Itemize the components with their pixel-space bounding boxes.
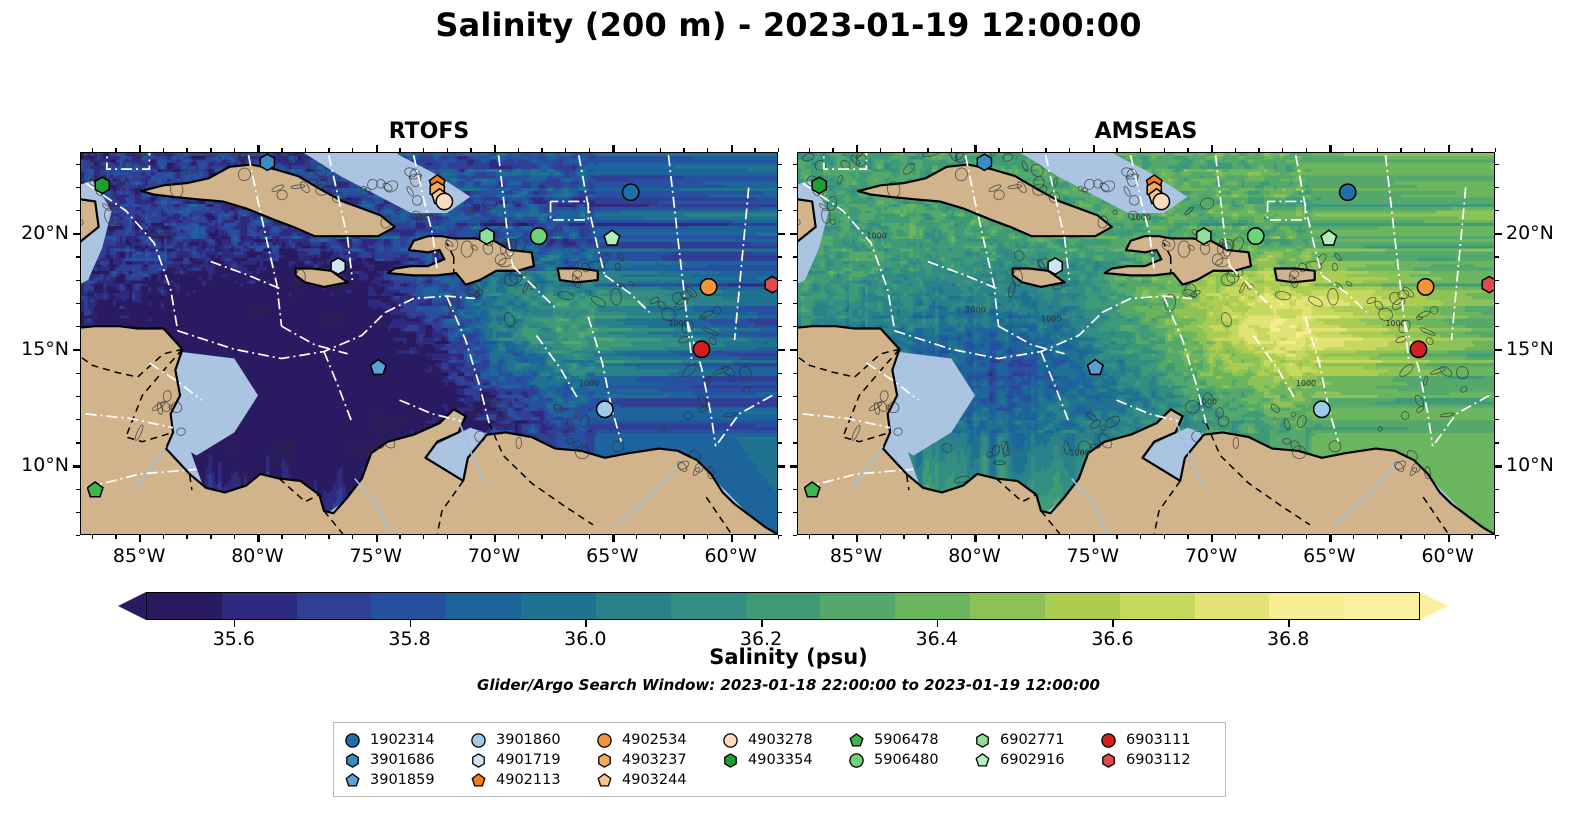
axis-tick — [778, 442, 782, 443]
axis-tick — [809, 535, 810, 539]
lon-tick-label: 60°W — [704, 545, 756, 567]
lon-tick-label: 80°W — [948, 545, 1000, 567]
legend-item-4903278[interactable]: 4903278 — [722, 732, 848, 749]
legend-item-5906478[interactable]: 5906478 — [848, 732, 974, 749]
hexagon-marker-icon — [596, 752, 613, 769]
axis-tick — [76, 373, 80, 374]
axis-tick — [778, 280, 782, 281]
axis-tick — [257, 145, 259, 152]
axis-tick — [1495, 326, 1499, 327]
axis-tick — [778, 512, 782, 513]
axis-tick — [793, 303, 797, 304]
colorbar-gradient — [146, 592, 1420, 620]
axis-tick — [92, 148, 93, 152]
axis-tick — [1069, 535, 1070, 539]
axis-tick — [951, 535, 952, 539]
axis-tick — [1495, 187, 1499, 188]
float-marker-6903111[interactable] — [693, 341, 709, 357]
axis-tick — [589, 148, 590, 152]
legend-item-label: 4902534 — [622, 732, 687, 748]
axis-tick — [998, 148, 999, 152]
axis-tick — [1495, 465, 1502, 467]
axis-tick — [76, 326, 80, 327]
axis-tick — [778, 349, 785, 351]
axis-tick — [951, 148, 952, 152]
axis-tick — [707, 148, 708, 152]
legend-item-label: 3901859 — [370, 772, 435, 788]
axis-tick — [399, 148, 400, 152]
axis-tick — [470, 148, 471, 152]
axis-tick — [565, 535, 566, 539]
svg-text:1000: 1000 — [1041, 315, 1061, 324]
float-marker-3901686[interactable] — [977, 154, 991, 170]
axis-tick — [163, 148, 164, 152]
axis-tick — [305, 535, 306, 539]
axis-tick — [1471, 535, 1472, 539]
svg-text:1000: 1000 — [966, 305, 986, 314]
axis-tick — [447, 148, 448, 152]
legend-item-label: 4903244 — [622, 772, 687, 788]
axis-tick — [856, 145, 858, 152]
float-marker-4902534[interactable] — [700, 279, 716, 295]
axis-tick — [778, 256, 782, 257]
axis-tick — [731, 535, 733, 542]
map-panel-rtofs[interactable]: 10001000100010001000100010001000 — [80, 152, 778, 535]
axis-tick — [376, 145, 378, 152]
axis-tick — [778, 419, 782, 420]
float-marker-6903112[interactable] — [765, 276, 777, 292]
axis-tick — [612, 535, 614, 542]
circle-marker-icon — [470, 732, 487, 749]
axis-tick — [352, 148, 353, 152]
axis-tick — [998, 535, 999, 539]
axis-tick — [612, 145, 614, 152]
axis-tick — [1045, 148, 1046, 152]
axis-tick — [1495, 489, 1499, 490]
axis-tick — [809, 148, 810, 152]
axis-tick — [778, 148, 779, 152]
axis-tick — [115, 535, 116, 539]
legend-item-label: 5906480 — [874, 752, 939, 768]
circle-marker-icon — [344, 732, 361, 749]
svg-text:1000: 1000 — [414, 213, 434, 222]
colorbar-tick — [937, 620, 939, 627]
axis-tick — [352, 535, 353, 539]
axis-tick — [1495, 256, 1499, 257]
axis-tick — [1093, 535, 1095, 542]
axis-tick — [1022, 148, 1023, 152]
axis-tick — [1471, 148, 1472, 152]
svg-text:1000: 1000 — [1131, 213, 1151, 222]
axis-tick — [494, 145, 496, 152]
axis-tick — [376, 535, 378, 542]
axis-tick — [281, 535, 282, 539]
axis-tick — [636, 148, 637, 152]
axis-tick — [1211, 145, 1213, 152]
axis-tick — [754, 148, 755, 152]
lat-tick-label-right: 20°N — [1506, 222, 1554, 244]
axis-tick — [186, 535, 187, 539]
axis-tick — [76, 396, 80, 397]
axis-tick — [494, 535, 496, 542]
map-raster: 10001000100010001000100010001000 — [81, 153, 777, 534]
axis-tick — [470, 535, 471, 539]
colorbar-extend-max — [1420, 592, 1448, 620]
hexagon-marker-icon — [470, 752, 487, 769]
legend-item-4903237[interactable]: 4903237 — [596, 752, 722, 769]
axis-tick — [1140, 148, 1141, 152]
legend-item-label: 6903111 — [1126, 732, 1191, 748]
axis-tick — [1448, 145, 1450, 152]
map-raster: 10001000100010001000100010001000 — [798, 153, 1494, 534]
axis-tick — [139, 535, 141, 542]
axis-tick — [1164, 148, 1165, 152]
float-marker-4902534[interactable] — [1417, 279, 1433, 295]
axis-tick — [76, 210, 80, 211]
axis-tick — [1282, 148, 1283, 152]
axis-tick — [778, 465, 785, 467]
axis-tick — [589, 535, 590, 539]
axis-tick — [880, 148, 881, 152]
axis-tick — [1187, 535, 1188, 539]
axis-tick — [115, 148, 116, 152]
axis-tick — [1495, 373, 1499, 374]
svg-text:1000: 1000 — [324, 315, 344, 324]
axis-tick — [210, 535, 211, 539]
legend-row: 1902314390186049025344903278590647869027… — [344, 730, 1215, 750]
axis-tick — [281, 148, 282, 152]
legend-item-3901686[interactable]: 3901686 — [344, 752, 470, 769]
axis-tick — [778, 535, 782, 536]
legend-item-6903112[interactable]: 6903112 — [1100, 752, 1226, 769]
axis-tick — [832, 535, 833, 539]
axis-tick — [1495, 512, 1499, 513]
legend-item-6902916[interactable]: 6902916 — [974, 752, 1100, 769]
panel-title-amseas: AMSEAS — [797, 119, 1495, 144]
legend-item-4903244[interactable]: 4903244 — [596, 772, 722, 789]
axis-tick — [1377, 148, 1378, 152]
colorbar-tick — [761, 620, 763, 627]
legend-item-label: 3901686 — [370, 752, 435, 768]
float-legend: 1902314390186049025344903278590647869027… — [333, 722, 1226, 797]
float-marker-6902771[interactable] — [1197, 228, 1211, 244]
axis-tick — [328, 148, 329, 152]
axis-tick — [76, 489, 80, 490]
axis-tick — [974, 145, 976, 152]
axis-tick — [790, 349, 797, 351]
lat-tick-label-left: 20°N — [0, 222, 69, 244]
legend-item-label: 4903354 — [748, 752, 813, 768]
lat-tick-label-left: 15°N — [0, 338, 69, 360]
axis-tick — [903, 535, 904, 539]
axis-tick — [793, 280, 797, 281]
axis-tick — [234, 535, 235, 539]
svg-text:1000: 1000 — [866, 231, 886, 240]
axis-tick — [856, 535, 858, 542]
hexagon-marker-icon — [344, 752, 361, 769]
axis-tick — [76, 280, 80, 281]
float-marker-5906480[interactable] — [531, 228, 547, 244]
axis-tick — [778, 187, 782, 188]
axis-tick — [1448, 535, 1450, 542]
axis-tick — [754, 535, 755, 539]
lon-tick-label: 65°W — [586, 545, 638, 567]
svg-text:1000: 1000 — [249, 305, 269, 314]
axis-tick — [903, 148, 904, 152]
axis-tick — [793, 442, 797, 443]
legend-row: 390185949021134903244 — [344, 770, 1215, 790]
axis-tick — [636, 535, 637, 539]
float-marker-4903354[interactable] — [812, 177, 826, 193]
float-marker-3901860[interactable] — [1314, 401, 1330, 417]
lon-tick-label: 85°W — [113, 545, 165, 567]
axis-tick — [1495, 419, 1499, 420]
axis-tick — [927, 535, 928, 539]
axis-tick — [1306, 535, 1307, 539]
axis-tick — [1424, 148, 1425, 152]
float-marker-4901719[interactable] — [1048, 258, 1062, 274]
axis-tick — [1329, 535, 1331, 542]
lon-tick-label: 65°W — [1303, 545, 1355, 567]
axis-tick — [927, 148, 928, 152]
legend-item-3901860[interactable]: 3901860 — [470, 732, 596, 749]
axis-tick — [1495, 396, 1499, 397]
float-marker-5906480[interactable] — [1248, 228, 1264, 244]
axis-tick — [76, 187, 80, 188]
circle-marker-icon — [848, 752, 865, 769]
axis-tick — [210, 148, 211, 152]
search-window-text: Glider/Argo Search Window: 2023-01-18 22… — [0, 676, 1577, 694]
colorbar-tick — [234, 620, 236, 627]
axis-tick — [793, 326, 797, 327]
float-marker-3901686[interactable] — [260, 154, 274, 170]
float-marker-4901719[interactable] — [331, 258, 345, 274]
float-marker-6902771[interactable] — [480, 228, 494, 244]
axis-tick — [707, 535, 708, 539]
axis-tick — [1069, 148, 1070, 152]
legend-item-4902113[interactable]: 4902113 — [470, 772, 596, 789]
axis-tick — [1140, 535, 1141, 539]
svg-text:1000: 1000 — [149, 231, 169, 240]
axis-tick — [1235, 535, 1236, 539]
svg-text:1000: 1000 — [352, 448, 372, 457]
legend-item-5906480[interactable]: 5906480 — [848, 752, 974, 769]
axis-tick — [1495, 148, 1496, 152]
axis-tick — [1495, 233, 1502, 235]
axis-tick — [1400, 148, 1401, 152]
axis-tick — [541, 535, 542, 539]
axis-tick — [76, 164, 80, 165]
float-marker-6903112[interactable] — [1482, 276, 1494, 292]
colorbar-label: Salinity (psu) — [0, 645, 1577, 669]
legend-item-label: 4903237 — [622, 752, 687, 768]
colorbar-tick — [1288, 620, 1290, 627]
legend-item-4902534[interactable]: 4902534 — [596, 732, 722, 749]
lat-tick-label-right: 10°N — [1506, 454, 1554, 476]
lon-tick-label: 60°W — [1421, 545, 1473, 567]
lat-tick-label-right: 15°N — [1506, 338, 1554, 360]
axis-tick — [92, 535, 93, 539]
axis-tick — [793, 419, 797, 420]
hexagon-marker-icon — [1100, 752, 1117, 769]
axis-tick — [1353, 148, 1354, 152]
colorbar-extend-min — [118, 592, 146, 620]
axis-tick — [660, 535, 661, 539]
axis-tick — [778, 396, 782, 397]
axis-tick — [793, 396, 797, 397]
legend-item-label: 3901860 — [496, 732, 561, 748]
axis-tick — [541, 148, 542, 152]
axis-tick — [518, 535, 519, 539]
axis-tick — [1211, 535, 1213, 542]
axis-tick — [1282, 535, 1283, 539]
axis-tick — [778, 326, 782, 327]
axis-tick — [76, 442, 80, 443]
figure-canvas: Salinity (200 m) - 2023-01-19 12:00:00 R… — [0, 0, 1577, 827]
axis-tick — [186, 148, 187, 152]
axis-tick — [880, 535, 881, 539]
hexagon-marker-icon — [722, 752, 739, 769]
axis-tick — [778, 210, 782, 211]
axis-tick — [1164, 535, 1165, 539]
lat-tick-label-left: 10°N — [0, 454, 69, 476]
lon-tick-label: 75°W — [1067, 545, 1119, 567]
lon-tick-label: 75°W — [350, 545, 402, 567]
circle-marker-icon — [596, 732, 613, 749]
axis-tick — [1495, 164, 1499, 165]
axis-tick — [518, 148, 519, 152]
float-marker-4903278[interactable] — [1153, 193, 1169, 209]
pentagon-marker-icon — [848, 732, 865, 749]
axis-tick — [399, 535, 400, 539]
axis-tick — [1045, 535, 1046, 539]
float-marker-1902314[interactable] — [1340, 184, 1356, 200]
axis-tick — [1424, 535, 1425, 539]
axis-tick — [683, 148, 684, 152]
axis-tick — [76, 512, 80, 513]
legend-item-3901859[interactable]: 3901859 — [344, 772, 470, 789]
axis-tick — [423, 535, 424, 539]
colorbar-tick — [410, 620, 412, 627]
axis-tick — [790, 465, 797, 467]
axis-tick — [793, 164, 797, 165]
axis-tick — [790, 233, 797, 235]
axis-tick — [76, 535, 80, 536]
axis-tick — [832, 148, 833, 152]
axis-tick — [731, 145, 733, 152]
float-marker-4903278[interactable] — [436, 193, 452, 209]
axis-tick — [1329, 145, 1331, 152]
legend-item-label: 5906478 — [874, 732, 939, 748]
axis-tick — [76, 256, 80, 257]
legend-item-label: 6903112 — [1126, 752, 1191, 768]
colorbar: 35.635.836.036.236.436.636.8 — [118, 592, 1448, 620]
axis-tick — [423, 148, 424, 152]
axis-tick — [1495, 303, 1499, 304]
legend-item-label: 1902314 — [370, 732, 435, 748]
axis-tick — [305, 148, 306, 152]
axis-tick — [234, 148, 235, 152]
axis-tick — [73, 233, 80, 235]
map-panel-amseas[interactable]: 10001000100010001000100010001000 — [797, 152, 1495, 535]
axis-tick — [1235, 148, 1236, 152]
axis-tick — [1022, 535, 1023, 539]
legend-item-4903354[interactable]: 4903354 — [722, 752, 848, 769]
axis-tick — [163, 535, 164, 539]
float-marker-4903354[interactable] — [95, 177, 109, 193]
axis-tick — [1116, 148, 1117, 152]
axis-tick — [778, 233, 785, 235]
hexagon-marker-icon — [974, 732, 991, 749]
lon-tick-label: 70°W — [1185, 545, 1237, 567]
axis-tick — [139, 145, 141, 152]
axis-tick — [1187, 148, 1188, 152]
legend-item-1902314[interactable]: 1902314 — [344, 732, 470, 749]
axis-tick — [778, 303, 782, 304]
axis-tick — [778, 164, 782, 165]
svg-text:1000: 1000 — [1296, 379, 1316, 388]
legend-item-6903111[interactable]: 6903111 — [1100, 732, 1226, 749]
legend-item-label: 4902113 — [496, 772, 561, 788]
axis-tick — [1353, 535, 1354, 539]
legend-item-label: 6902916 — [1000, 752, 1065, 768]
svg-text:1000: 1000 — [1069, 448, 1089, 457]
svg-text:1000: 1000 — [1385, 319, 1405, 328]
axis-tick — [1258, 535, 1259, 539]
lon-tick-label: 85°W — [830, 545, 882, 567]
colorbar-tick — [585, 620, 587, 627]
panel-title-rtofs: RTOFS — [80, 119, 778, 144]
axis-tick — [793, 535, 797, 536]
axis-tick — [793, 210, 797, 211]
legend-item-6902771[interactable]: 6902771 — [974, 732, 1100, 749]
axis-tick — [1400, 535, 1401, 539]
axis-tick — [778, 373, 782, 374]
axis-tick — [73, 349, 80, 351]
pentagon-marker-icon — [974, 752, 991, 769]
axis-tick — [1495, 280, 1499, 281]
float-marker-6903111[interactable] — [1410, 341, 1426, 357]
axis-tick — [1116, 535, 1117, 539]
axis-tick — [565, 148, 566, 152]
float-marker-3901860[interactable] — [597, 401, 613, 417]
float-marker-1902314[interactable] — [623, 184, 639, 200]
axis-tick — [76, 303, 80, 304]
legend-item-label: 6902771 — [1000, 732, 1065, 748]
axis-tick — [660, 148, 661, 152]
axis-tick — [1495, 349, 1502, 351]
axis-tick — [793, 256, 797, 257]
axis-tick — [447, 535, 448, 539]
axis-tick — [73, 465, 80, 467]
axis-tick — [1258, 148, 1259, 152]
legend-item-4901719[interactable]: 4901719 — [470, 752, 596, 769]
axis-tick — [793, 512, 797, 513]
axis-tick — [793, 373, 797, 374]
circle-marker-icon — [722, 732, 739, 749]
axis-tick — [1495, 210, 1499, 211]
pentagon-marker-icon — [344, 772, 361, 789]
svg-text:1000: 1000 — [668, 319, 688, 328]
lon-tick-label: 70°W — [468, 545, 520, 567]
axis-tick — [778, 489, 782, 490]
axis-tick — [683, 535, 684, 539]
axis-tick — [793, 187, 797, 188]
legend-row: 3901686490171949032374903354590648069029… — [344, 750, 1215, 770]
axis-tick — [1495, 442, 1499, 443]
colorbar-tick — [1112, 620, 1114, 627]
lon-tick-label: 80°W — [231, 545, 283, 567]
